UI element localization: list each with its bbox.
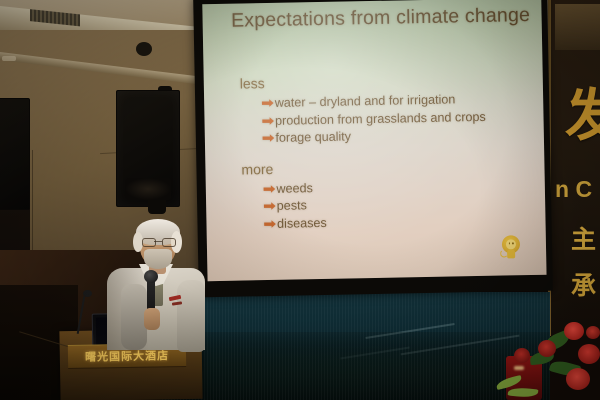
glasses-lens-right [162, 238, 176, 247]
projection-screen: Expectations from climate change less ➡w… [202, 0, 546, 281]
banner-character-host: 主 [571, 228, 596, 253]
flower-arrangement [490, 318, 600, 400]
lion-eye-right [512, 242, 514, 244]
presenter-arm-right [177, 280, 205, 352]
banner-big-character: 发 [565, 88, 600, 144]
wall-speaker-left [0, 98, 30, 210]
glasses-lens-left [142, 238, 156, 247]
vase-highlight [514, 366, 524, 370]
slide-title: Expectations from climate change [230, 4, 530, 33]
arrow-bullet-icon: ➡ [262, 112, 274, 130]
slide-footer [221, 269, 532, 275]
slide-bullet-text: water – dryland and for irrigation [275, 92, 456, 109]
slide-group-heading-less: less [240, 70, 530, 92]
handheld-microphone-head [144, 270, 158, 283]
slide-bullet: ➡forage quality [263, 125, 531, 148]
podium-microphone [83, 290, 92, 297]
lion-logo [500, 235, 522, 259]
slide-bullet-text: production from grasslands and crops [275, 109, 486, 127]
slide-body: less ➡water – dryland and for irrigation… [240, 70, 533, 234]
glasses-bridge [154, 241, 162, 242]
lion-eye-left [508, 242, 510, 244]
slide-bullet-text: diseases [277, 215, 327, 230]
presenter-beard [144, 249, 172, 269]
slide-bullet-text: forage quality [275, 129, 351, 144]
banner-latin-fragment: n C [555, 178, 592, 201]
flower-bloom [514, 348, 530, 363]
flower-bloom [586, 326, 600, 339]
banner-character-organizer: 承 [571, 274, 596, 299]
arrow-bullet-icon: ➡ [263, 198, 275, 216]
arrow-bullet-icon: ➡ [261, 95, 273, 113]
arrow-bullet-icon: ➡ [264, 215, 276, 233]
wall-speaker-main [116, 90, 180, 207]
slide-group-heading-more: more [241, 155, 531, 177]
banner-top-panel [555, 4, 600, 50]
flower-bloom [538, 340, 556, 357]
arrow-bullet-icon: ➡ [262, 130, 274, 148]
ceiling-speaker-round [136, 42, 152, 56]
flower-bloom [578, 344, 600, 364]
wall-marking [2, 56, 16, 61]
presenter [103, 218, 209, 348]
presenter-glasses [142, 238, 175, 245]
slide-bullet-text: weeds [276, 181, 313, 196]
screenshot-root: 发 n C 主 承 Expectations from climate chan… [0, 0, 600, 400]
flower-bloom [564, 322, 584, 340]
arrow-bullet-icon: ➡ [263, 180, 275, 198]
event-banner: 发 n C 主 承 [548, 0, 600, 336]
presenter-hand [144, 308, 160, 330]
lion-body [507, 249, 515, 258]
flower-bloom [566, 368, 590, 390]
slide-bullet-text: pests [277, 198, 307, 213]
projection-screen-frame: Expectations from climate change less ➡w… [193, 0, 553, 297]
speaker-mount-bottom [148, 200, 166, 214]
